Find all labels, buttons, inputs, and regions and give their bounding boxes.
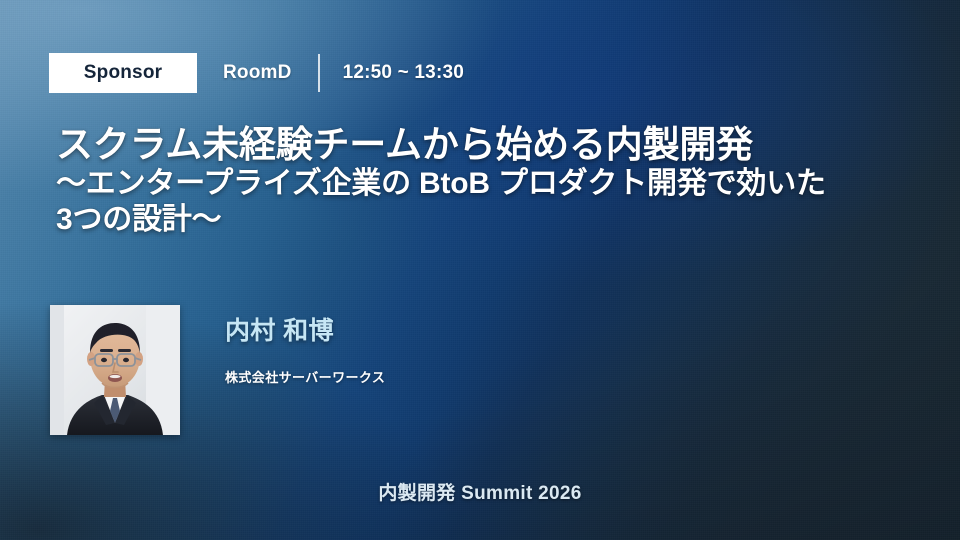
room-label: RoomD <box>223 62 292 84</box>
speaker-name: 内村 和博 <box>225 311 385 347</box>
speaker-info: 内村 和博 株式会社サーバーワークス <box>225 305 385 386</box>
portrait-image <box>50 305 180 435</box>
session-time: 12:50 ~ 13:30 <box>343 62 464 84</box>
meta-divider <box>318 54 320 92</box>
event-footer: 内製開発 Summit 2026 <box>0 478 960 505</box>
session-title: スクラム未経験チームから始める内製開発 〜エンタープライズ企業の BtoB プロ… <box>56 124 936 239</box>
title-line-3: 3つの設計〜 <box>56 202 936 239</box>
event-name: 内製開発 Summit 2026 <box>378 483 581 504</box>
speaker-block: 内村 和博 株式会社サーバーワークス <box>50 305 385 435</box>
session-slide: Sponsor RoomD 12:50 ~ 13:30 スクラム未経験チームから… <box>0 0 960 540</box>
title-line-1: スクラム未経験チームから始める内製開発 <box>56 124 936 166</box>
speaker-organization: 株式会社サーバーワークス <box>225 367 385 386</box>
title-line-2: 〜エンタープライズ企業の BtoB プロダクト開発で効いた <box>56 166 936 203</box>
session-meta-row: Sponsor RoomD 12:50 ~ 13:30 <box>49 53 464 93</box>
sponsor-badge-label: Sponsor <box>84 62 162 84</box>
speaker-photo <box>50 305 180 435</box>
sponsor-badge: Sponsor <box>49 53 197 93</box>
